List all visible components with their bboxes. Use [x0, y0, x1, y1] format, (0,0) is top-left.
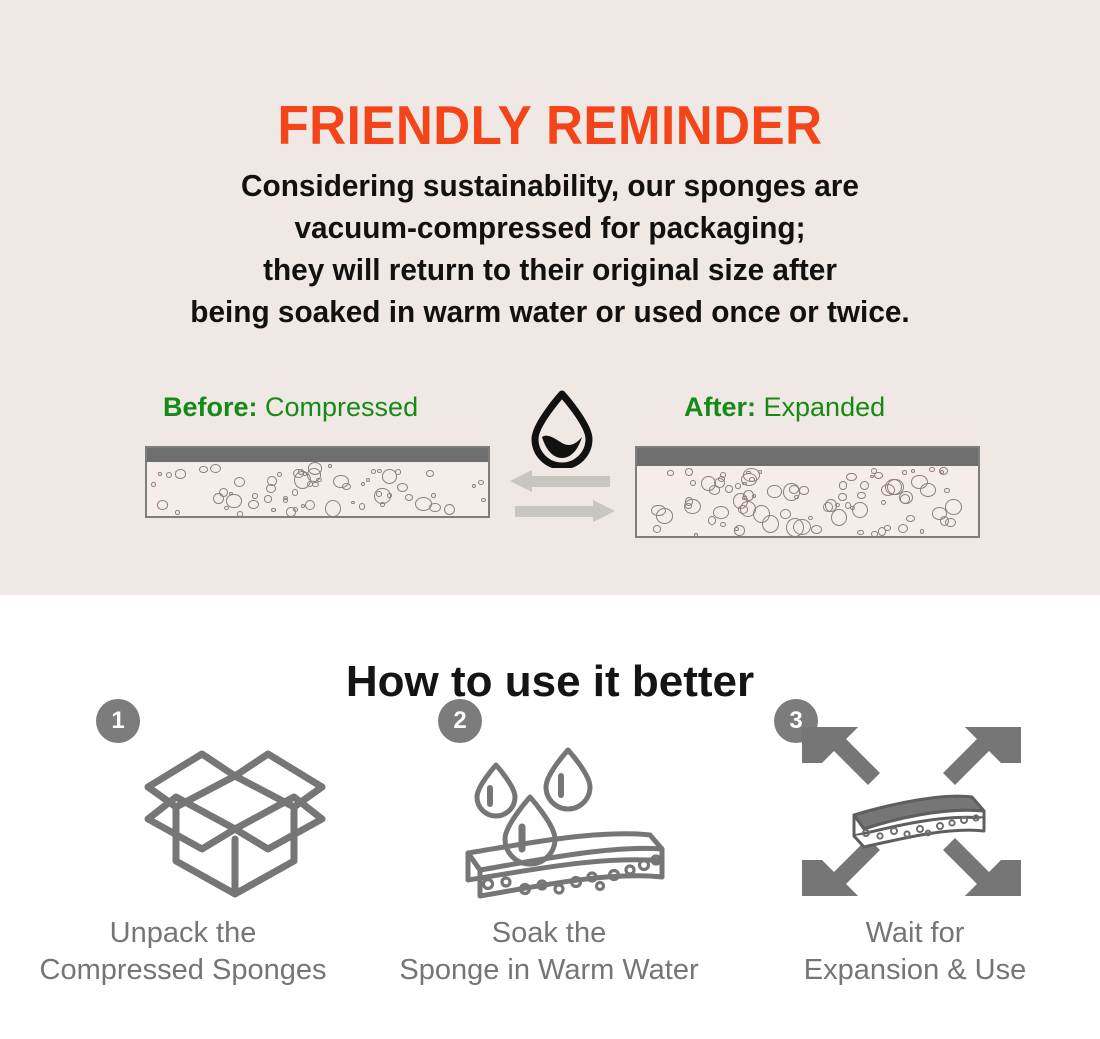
sponge-pore: [292, 489, 299, 496]
sponge-pore: [945, 499, 962, 515]
sponge-pore: [252, 493, 259, 499]
before-label: Before: Compressed: [163, 392, 418, 422]
sponge-pore: [906, 515, 916, 523]
sponge-pore: [472, 484, 476, 488]
open-box-icon: [140, 719, 330, 909]
paragraph-line: Considering sustainability, our sponges …: [22, 165, 1078, 207]
step-artwork: 2: [366, 697, 732, 912]
sponge-pore: [857, 530, 864, 535]
sponge-pore: [911, 469, 915, 473]
sponge-pore: [283, 498, 288, 503]
sponge-pore: [685, 503, 692, 509]
sponge-pore: [752, 494, 757, 499]
caption-line: Soak the: [366, 915, 732, 952]
sponge-pore: [351, 501, 355, 504]
sponge-pore: [397, 483, 408, 492]
sponge-pore: [945, 518, 956, 528]
sponge-pore: [929, 467, 935, 473]
step-artwork: 1: [0, 697, 366, 912]
sponge-pore: [846, 473, 857, 482]
steps-list: 1: [0, 697, 1100, 1027]
step-number-badge: 1: [96, 699, 140, 743]
water-drops-on-sponge-icon: [458, 725, 673, 910]
sponge-pore: [857, 492, 866, 500]
paragraph-line: being soaked in warm water or used once …: [22, 291, 1078, 333]
reminder-paragraph: Considering sustainability, our sponges …: [22, 165, 1078, 333]
sponge-pore: [175, 510, 180, 514]
sponge-pore: [377, 469, 382, 473]
caption-line: Compressed Sponges: [0, 952, 366, 989]
sponge-pore: [305, 500, 316, 510]
sponge-pore: [871, 531, 878, 538]
sponge-pore: [742, 482, 746, 486]
sponge-pore: [932, 507, 948, 520]
sponge-pore: [264, 495, 272, 503]
step-artwork: 3: [732, 697, 1098, 912]
page-title: FRIENDLY REMINDER: [39, 94, 1062, 156]
sponge-pore: [845, 502, 852, 509]
sponge-pore: [685, 468, 693, 477]
caption-line: Sponge in Warm Water: [366, 952, 732, 989]
sponge-pore: [157, 500, 169, 510]
sponge-pore: [151, 482, 156, 487]
sponge-pore: [359, 503, 366, 510]
sponge-pore: [431, 493, 435, 497]
sponge-pore: [725, 485, 734, 493]
sponge-pore: [944, 488, 950, 493]
caption-line: Expansion & Use: [732, 952, 1098, 989]
sponge-pore: [780, 509, 791, 520]
before-label-lead: Before:: [163, 392, 258, 422]
expanding-arrows-sponge-icon: [794, 719, 1029, 909]
sponge-pore: [653, 525, 661, 533]
sponge-pore: [325, 500, 341, 517]
friendly-reminder-section: FRIENDLY REMINDER Considering sustainabi…: [0, 0, 1100, 595]
sponge-pore: [860, 481, 869, 490]
sponge-pore: [303, 472, 308, 476]
sponge-pore: [478, 480, 484, 485]
sponge-pore: [838, 493, 847, 501]
sponge-pore: [920, 483, 937, 497]
after-label-lead: After:: [684, 392, 756, 422]
step-caption: Unpack the Compressed Sponges: [0, 915, 366, 989]
sponge-pore: [839, 481, 848, 489]
before-label-tail: Compressed: [265, 392, 418, 422]
sponge-pore: [720, 522, 726, 527]
sponge-pore: [667, 470, 674, 476]
sponge-pore: [749, 477, 755, 482]
sponge-pore: [395, 469, 401, 475]
sponge-pore: [690, 480, 696, 486]
sponge-pore: [199, 466, 208, 474]
sponge-pore: [811, 525, 822, 534]
sponge-pore: [900, 494, 911, 504]
step-item: 1: [0, 697, 366, 1027]
sponge-pore: [248, 500, 259, 509]
sponge-pore: [808, 516, 813, 520]
water-drop-icon: [527, 390, 597, 473]
sponge-pore: [234, 477, 245, 488]
sponge-pore: [286, 507, 296, 516]
sponge-pore: [940, 470, 944, 474]
sponge-scrub-layer: [147, 448, 488, 462]
sponge-pore: [175, 469, 187, 478]
paragraph-line: vacuum-compressed for packaging;: [22, 207, 1078, 249]
transition-indicator: [505, 390, 620, 540]
after-label-tail: Expanded: [764, 392, 886, 422]
sponge-pore: [361, 482, 365, 486]
paragraph-line: they will return to their original size …: [22, 249, 1078, 291]
step-item: 2: [366, 697, 732, 1027]
sponge-pore: [823, 502, 833, 512]
sponge-pore: [767, 485, 781, 498]
sponge-pore: [870, 475, 874, 479]
sponge-pore: [444, 504, 455, 516]
sponge-pore: [881, 500, 886, 505]
sponge-pore: [387, 493, 392, 498]
sponge-pore: [415, 497, 432, 511]
sponge-pore: [342, 483, 351, 490]
sponge-pore: [794, 495, 799, 499]
caption-line: Wait for: [732, 915, 1098, 952]
sponge-pore: [219, 488, 228, 497]
sponge-pore: [714, 478, 725, 488]
sponge-pore: [237, 511, 244, 517]
after-label: After: Expanded: [684, 392, 885, 422]
expanded-sponge-illustration: [635, 446, 980, 538]
sponge-pore: [267, 476, 277, 486]
sponge-pore: [210, 464, 221, 473]
sponge-pore: [762, 515, 780, 534]
sponge-pore: [694, 533, 698, 537]
sponge-pore: [898, 524, 908, 533]
sponge-pore: [852, 502, 868, 519]
sponge-scrub-layer: [637, 448, 978, 466]
step-caption: Soak the Sponge in Warm Water: [366, 915, 732, 989]
sponge-pore: [799, 486, 808, 495]
sponge-pore: [405, 494, 413, 501]
sponge-pore: [789, 485, 799, 494]
caption-line: Unpack the: [0, 915, 366, 952]
sponge-pore: [271, 508, 276, 513]
sponge-pore: [301, 504, 305, 508]
sponge-pore: [878, 527, 886, 536]
sponge-pore: [920, 529, 925, 534]
sponge-pore: [426, 470, 434, 477]
sponge-pore: [380, 502, 385, 507]
sponge-pore: [158, 472, 162, 477]
sponge-pore: [735, 483, 742, 489]
sponge-pore: [312, 482, 319, 487]
sponge-pore: [481, 498, 486, 502]
sponge-pore: [371, 469, 376, 474]
sponge-pore: [328, 464, 333, 469]
sponge-pore: [166, 472, 172, 478]
sponge-pore: [366, 478, 371, 483]
before-after-comparison: Before: Compressed After: Expanded: [0, 392, 1100, 557]
sponge-pore: [713, 506, 730, 519]
sponge-pore: [308, 462, 323, 474]
sponge-pore: [277, 472, 282, 477]
sponge-pore: [887, 479, 904, 496]
how-to-use-section: How to use it better 1: [0, 595, 1100, 1039]
compressed-sponge-illustration: [145, 446, 490, 518]
step-item: 3: [732, 697, 1098, 1027]
sponge-pore: [758, 470, 762, 474]
sponge-pore: [376, 491, 382, 496]
exchange-arrows-icon: [510, 470, 615, 527]
sponge-pore: [786, 518, 804, 537]
sponge-pore: [226, 494, 242, 509]
step-caption: Wait for Expansion & Use: [732, 915, 1098, 989]
sponge-pore: [734, 525, 745, 536]
sponge-pore: [902, 470, 906, 474]
